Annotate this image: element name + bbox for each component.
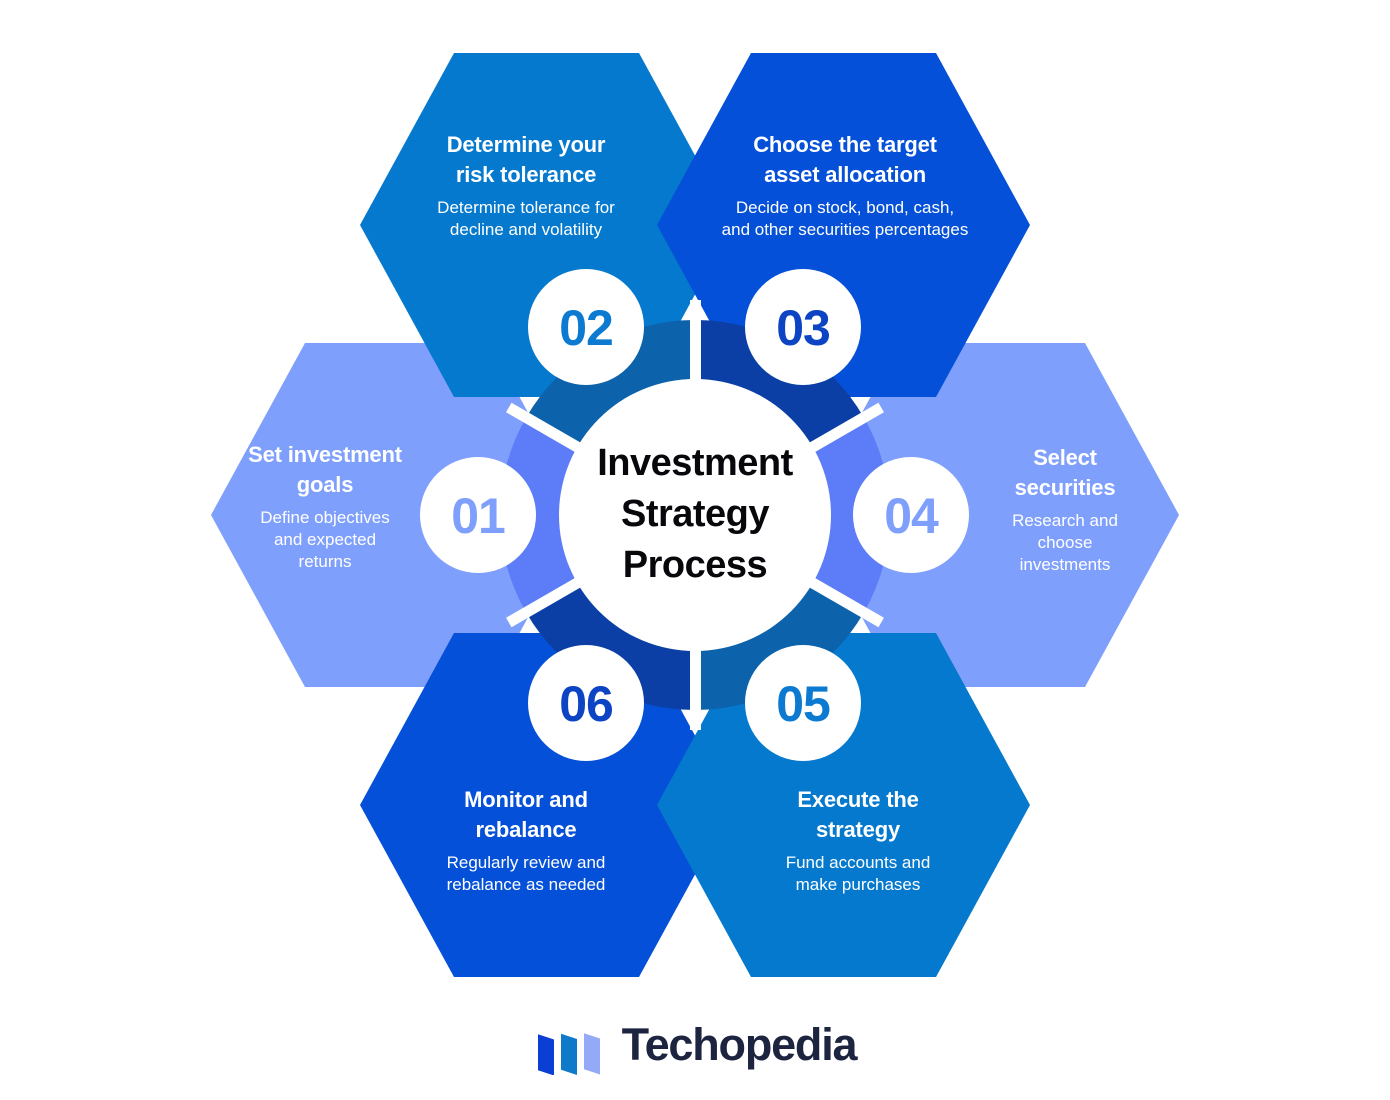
number-badge-01[interactable] <box>420 457 536 573</box>
center-title: Investment Strategy Process <box>545 438 845 591</box>
number-badge-05[interactable] <box>745 645 861 761</box>
number-badge-04[interactable] <box>853 457 969 573</box>
number-badge-06[interactable] <box>528 645 644 761</box>
number-badge-02[interactable] <box>528 269 644 385</box>
techopedia-logo-icon <box>534 1015 606 1075</box>
number-badge-03[interactable] <box>745 269 861 385</box>
brand-footer: Techopedia <box>0 1005 1390 1085</box>
brand-name: Techopedia <box>622 1019 857 1071</box>
infographic-canvas: 01 02 03 04 05 06 Set investment goals D… <box>0 0 1390 1100</box>
